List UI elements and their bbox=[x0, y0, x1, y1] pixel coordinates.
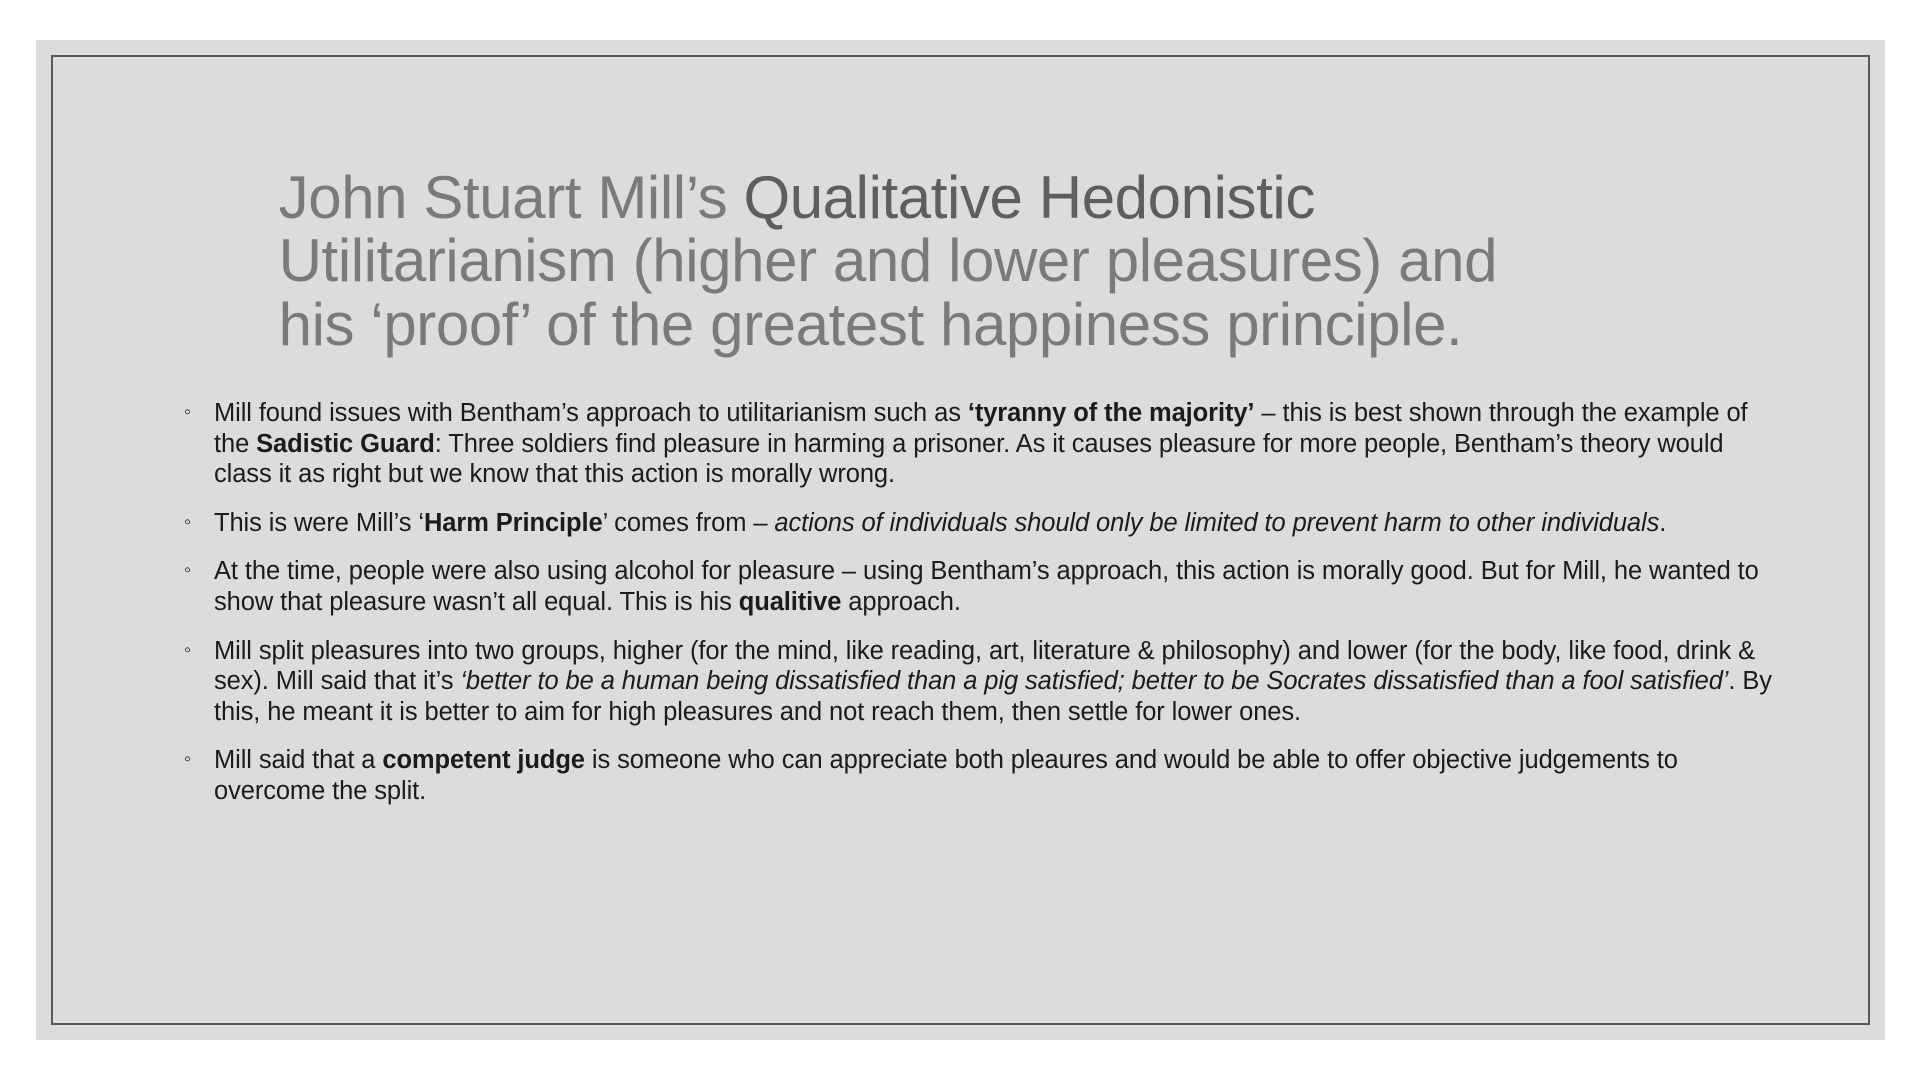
page-title: John Stuart Mill’s Qualitative Hedonisti… bbox=[181, 102, 1761, 420]
list-item-text: At the time, people were also using alco… bbox=[214, 556, 1781, 617]
text-run-bold: Sadistic Guard bbox=[256, 430, 435, 458]
slide-body-block: ◦Mill found issues with Bentham’s approa… bbox=[181, 398, 1781, 807]
list-item: ◦Mill found issues with Bentham’s approa… bbox=[181, 398, 1781, 490]
list-item: ◦Mill split pleasures into two groups, h… bbox=[181, 636, 1781, 728]
slide-title-block: John Stuart Mill’s Qualitative Hedonisti… bbox=[181, 102, 1761, 420]
bullet-marker-icon: ◦ bbox=[184, 556, 191, 584]
text-run-normal: . bbox=[1659, 509, 1666, 537]
title-text-emphasis: Qualitative Hedonistic bbox=[743, 164, 1314, 231]
text-run-normal: Mill said that a bbox=[214, 746, 382, 774]
text-run-normal: ’ comes from – bbox=[603, 509, 775, 537]
list-item-text: Mill found issues with Bentham’s approac… bbox=[214, 398, 1781, 490]
bullet-marker-icon: ◦ bbox=[184, 636, 191, 664]
text-run-italic: actions of individuals should only be li… bbox=[774, 509, 1659, 537]
text-run-bold: qualitive bbox=[739, 588, 842, 616]
text-run-normal: approach. bbox=[841, 588, 961, 616]
text-run-normal: : Three soldiers find pleasure in harmin… bbox=[214, 430, 1723, 489]
bullet-marker-icon: ◦ bbox=[184, 508, 191, 536]
list-item-text: Mill split pleasures into two groups, hi… bbox=[214, 636, 1781, 728]
list-item: ◦Mill said that a competent judge is som… bbox=[181, 745, 1781, 806]
text-run-bold: Harm Principle bbox=[424, 509, 603, 537]
title-line-2: Utilitarianism (higher and lower pleasur… bbox=[279, 227, 1497, 294]
list-item: ◦This is were Mill’s ‘Harm Principle’ co… bbox=[181, 508, 1781, 539]
title-text-normal: John Stuart Mill’s bbox=[279, 164, 744, 231]
text-run-italic: ‘better to be a human being dissatisfied… bbox=[460, 667, 1728, 695]
text-run-normal: At the time, people were also using alco… bbox=[214, 557, 1759, 616]
text-run-normal: Mill found issues with Bentham’s approac… bbox=[214, 399, 968, 427]
text-run-bold: ‘tyranny of the majority’ bbox=[968, 399, 1255, 427]
text-run-bold: competent judge bbox=[382, 746, 585, 774]
bullet-marker-icon: ◦ bbox=[184, 398, 191, 426]
bullet-list: ◦Mill found issues with Bentham’s approa… bbox=[181, 398, 1781, 807]
list-item-text: This is were Mill’s ‘Harm Principle’ com… bbox=[214, 508, 1781, 539]
list-item: ◦At the time, people were also using alc… bbox=[181, 556, 1781, 617]
bullet-marker-icon: ◦ bbox=[184, 745, 191, 773]
list-item-text: Mill said that a competent judge is some… bbox=[214, 745, 1781, 806]
title-line-3: his ‘proof’ of the greatest happiness pr… bbox=[279, 291, 1463, 358]
slide-canvas: John Stuart Mill’s Qualitative Hedonisti… bbox=[36, 40, 1885, 1040]
text-run-normal: This is were Mill’s ‘ bbox=[214, 509, 424, 537]
